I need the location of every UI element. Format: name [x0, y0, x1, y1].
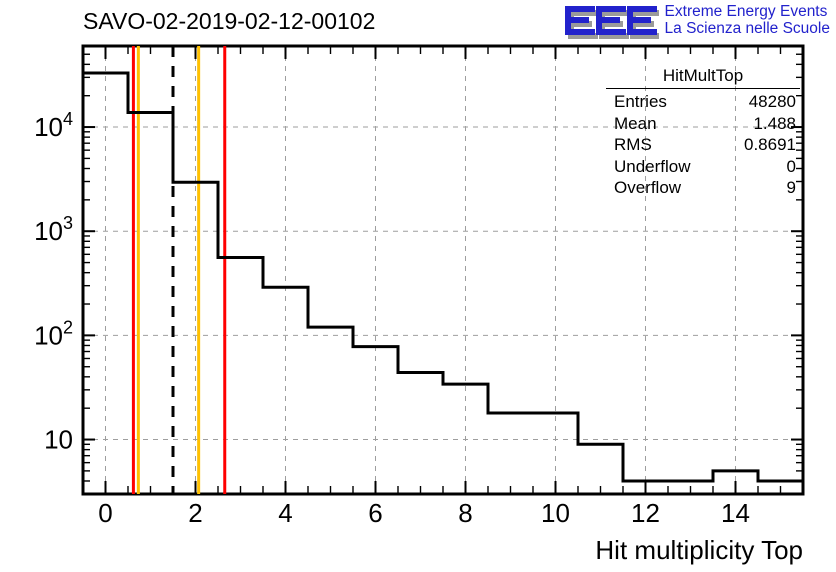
x-tick-label: 8: [458, 498, 472, 528]
stats-row-key: Underflow: [614, 156, 691, 178]
y-tick-label: 102: [34, 317, 73, 350]
stats-divider: [606, 88, 800, 89]
x-tick-label: 10: [541, 498, 570, 528]
stats-row: Mean1.488: [604, 113, 802, 135]
stats-row-value: 1.488: [753, 113, 796, 135]
x-tick-label: 6: [368, 498, 382, 528]
plot-canvas: SAVO-02-2019-02-12-00102 Extreme Energy …: [0, 0, 836, 572]
x-tick-label: 12: [631, 498, 660, 528]
stats-rows: Entries48280Mean1.488RMS0.8691Underflow0…: [604, 91, 802, 199]
x-tick-label: 4: [278, 498, 292, 528]
stats-title: HitMultTop: [604, 66, 802, 88]
stats-row: RMS0.8691: [604, 134, 802, 156]
stats-row-value: 0: [787, 156, 796, 178]
x-tick-label: 2: [188, 498, 202, 528]
stats-row-value: 9: [787, 177, 796, 199]
stats-row-value: 0.8691: [744, 134, 796, 156]
stats-row-key: Entries: [614, 91, 667, 113]
x-tick-label: 14: [721, 498, 750, 528]
y-tick-label: 104: [34, 109, 73, 142]
x-tick-label: 0: [98, 498, 112, 528]
stats-row: Entries48280: [604, 91, 802, 113]
y-tick-label: 103: [34, 213, 73, 246]
stats-row-value: 48280: [749, 91, 796, 113]
stats-row-key: Mean: [614, 113, 657, 135]
stats-row-key: Overflow: [614, 177, 681, 199]
stats-row: Overflow9: [604, 177, 802, 199]
stats-box: HitMultTop Entries48280Mean1.488RMS0.869…: [604, 66, 802, 199]
x-axis-title: Hit multiplicity Top: [595, 535, 803, 566]
stats-row: Underflow0: [604, 156, 802, 178]
stats-row-key: RMS: [614, 134, 652, 156]
y-tick-label: 10: [44, 425, 73, 455]
